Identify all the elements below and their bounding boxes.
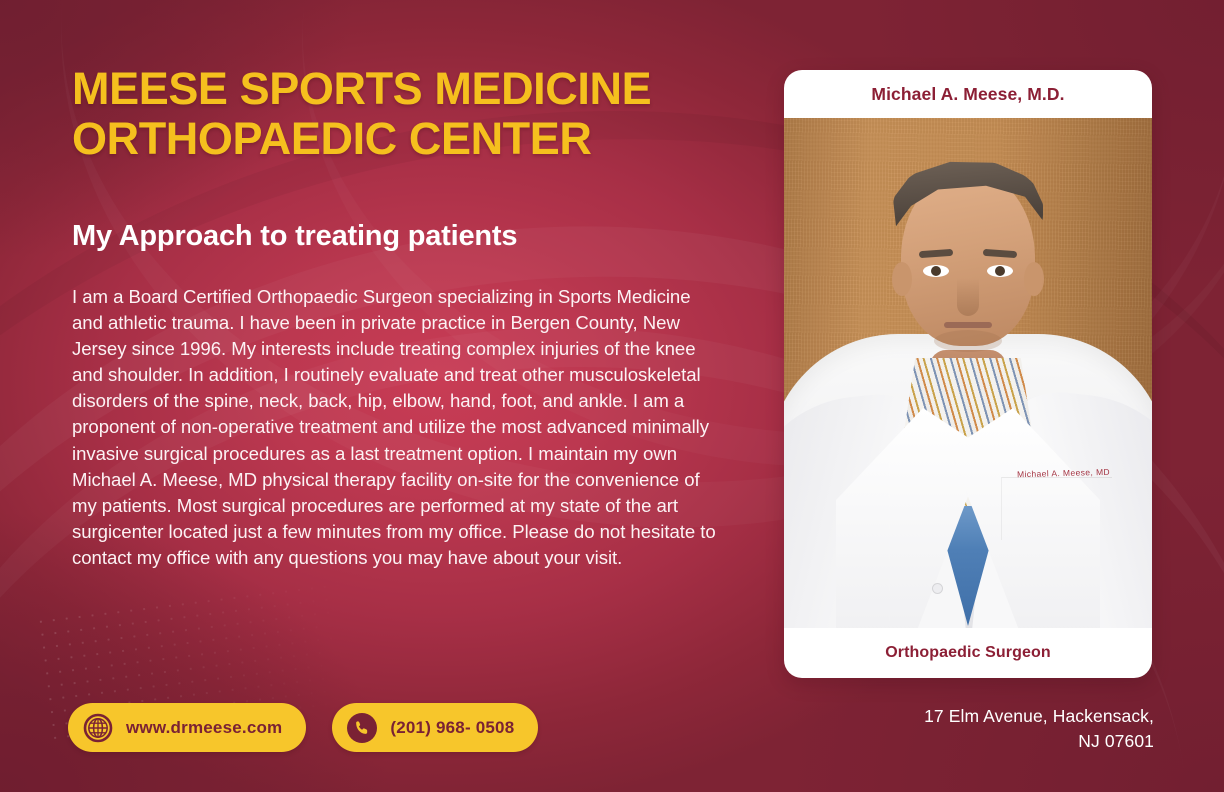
phone-label: (201) 968- 0508 — [390, 718, 514, 738]
eye-right — [987, 265, 1013, 277]
ear-left — [892, 262, 912, 296]
brand-title: MEESE SPORTS MEDICINE ORTHOPAEDIC CENTER — [72, 64, 732, 164]
hair — [893, 160, 1043, 252]
globe-icon — [83, 713, 113, 743]
doctor-name: Michael A. Meese, M.D. — [784, 70, 1152, 118]
eyebrow-right — [983, 249, 1017, 258]
doctor-profile-card: Michael A. Meese, M.D. Michael A. Meese,… — [784, 70, 1152, 678]
doctor-portrait-photo: Michael A. Meese, MD — [784, 118, 1152, 628]
address-line-1: 17 Elm Avenue, Hackensack, — [924, 706, 1154, 726]
nose — [957, 278, 979, 316]
coat-pocket — [1001, 477, 1112, 540]
doctor-figure: Michael A. Meese, MD — [784, 118, 1152, 628]
phone-pill[interactable]: (201) 968- 0508 — [332, 703, 538, 752]
mouth — [944, 322, 992, 328]
address-line-2: NJ 07601 — [834, 729, 1154, 754]
doctor-head — [901, 170, 1035, 346]
section-subheading: My Approach to treating patients — [72, 164, 732, 253]
left-content-column: MEESE SPORTS MEDICINE ORTHOPAEDIC CENTER… — [72, 64, 732, 571]
website-label: www.drmeese.com — [126, 718, 282, 738]
contact-pill-row: www.drmeese.com (201) 968- 0508 — [68, 703, 538, 752]
brand-title-line-1: MEESE SPORTS MEDICINE — [72, 63, 651, 114]
chin-shading — [934, 330, 1002, 352]
eye-left — [923, 265, 949, 277]
eyebrow-left — [919, 249, 953, 258]
office-address: 17 Elm Avenue, Hackensack, NJ 07601 — [834, 704, 1154, 754]
ear-right — [1024, 262, 1044, 296]
brand-title-line-2: ORTHOPAEDIC CENTER — [72, 114, 732, 164]
doctor-role: Orthopaedic Surgeon — [784, 628, 1152, 678]
website-pill[interactable]: www.drmeese.com — [68, 703, 306, 752]
approach-paragraph: I am a Board Certified Orthopaedic Surge… — [72, 253, 720, 571]
phone-icon — [347, 713, 377, 743]
poster-canvas: MEESE SPORTS MEDICINE ORTHOPAEDIC CENTER… — [0, 0, 1224, 792]
coat-button — [932, 583, 943, 594]
